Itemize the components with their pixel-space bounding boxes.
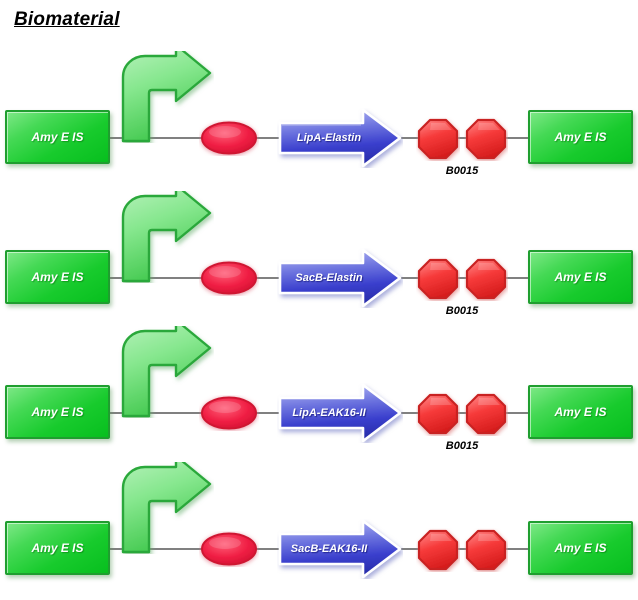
terminator-octagon-icon[interactable] <box>464 117 508 161</box>
right-homology-label: Amy E IS <box>554 270 606 284</box>
right-homology-label: Amy E IS <box>554 130 606 144</box>
construct-row: Amy E IS LipA-EAK16-II <box>0 344 638 484</box>
left-homology-box[interactable]: Amy E IS <box>5 385 110 439</box>
construct-row: Amy E IS SacB-EAK16-II <box>0 480 638 600</box>
diagram-canvas: Biomaterial Amy E IS <box>0 0 638 600</box>
left-homology-box[interactable]: Amy E IS <box>5 521 110 575</box>
right-homology-label: Amy E IS <box>554 541 606 555</box>
terminator-octagon-icon[interactable] <box>416 117 460 161</box>
page-title: Biomaterial <box>14 9 120 31</box>
terminator-label: B0015 <box>416 440 508 452</box>
rbs-ellipse-icon[interactable] <box>199 395 259 431</box>
left-homology-box[interactable]: Amy E IS <box>5 250 110 304</box>
right-homology-box[interactable]: Amy E IS <box>528 250 633 304</box>
right-homology-box[interactable]: Amy E IS <box>528 385 633 439</box>
cds-arrow-icon[interactable]: SacB-Elastin <box>277 248 403 308</box>
construct-row: Amy E IS <box>0 69 638 209</box>
left-homology-label: Amy E IS <box>31 270 83 284</box>
terminator-label: B0015 <box>416 165 508 177</box>
terminator-octagon-icon[interactable] <box>464 528 508 572</box>
terminator-octagon-icon[interactable] <box>464 257 508 301</box>
terminator-label: B0015 <box>416 305 508 317</box>
left-homology-label: Amy E IS <box>31 130 83 144</box>
right-homology-label: Amy E IS <box>554 405 606 419</box>
cds-arrow-icon[interactable]: SacB-EAK16-II <box>277 519 403 579</box>
right-homology-box[interactable]: Amy E IS <box>528 110 633 164</box>
terminator-octagon-icon[interactable] <box>416 257 460 301</box>
rbs-ellipse-icon[interactable] <box>199 531 259 567</box>
construct-row: Amy E IS SacB-Elastin <box>0 209 638 349</box>
terminator-octagon-icon[interactable] <box>416 528 460 572</box>
rbs-ellipse-icon[interactable] <box>199 260 259 296</box>
terminator-octagon-icon[interactable] <box>416 392 460 436</box>
right-homology-box[interactable]: Amy E IS <box>528 521 633 575</box>
left-homology-label: Amy E IS <box>31 541 83 555</box>
rbs-ellipse-icon[interactable] <box>199 120 259 156</box>
terminator-octagon-icon[interactable] <box>464 392 508 436</box>
left-homology-box[interactable]: Amy E IS <box>5 110 110 164</box>
cds-arrow-icon[interactable]: LipA-EAK16-II <box>277 383 403 443</box>
left-homology-label: Amy E IS <box>31 405 83 419</box>
cds-arrow-icon[interactable]: LipA-Elastin <box>277 108 403 168</box>
